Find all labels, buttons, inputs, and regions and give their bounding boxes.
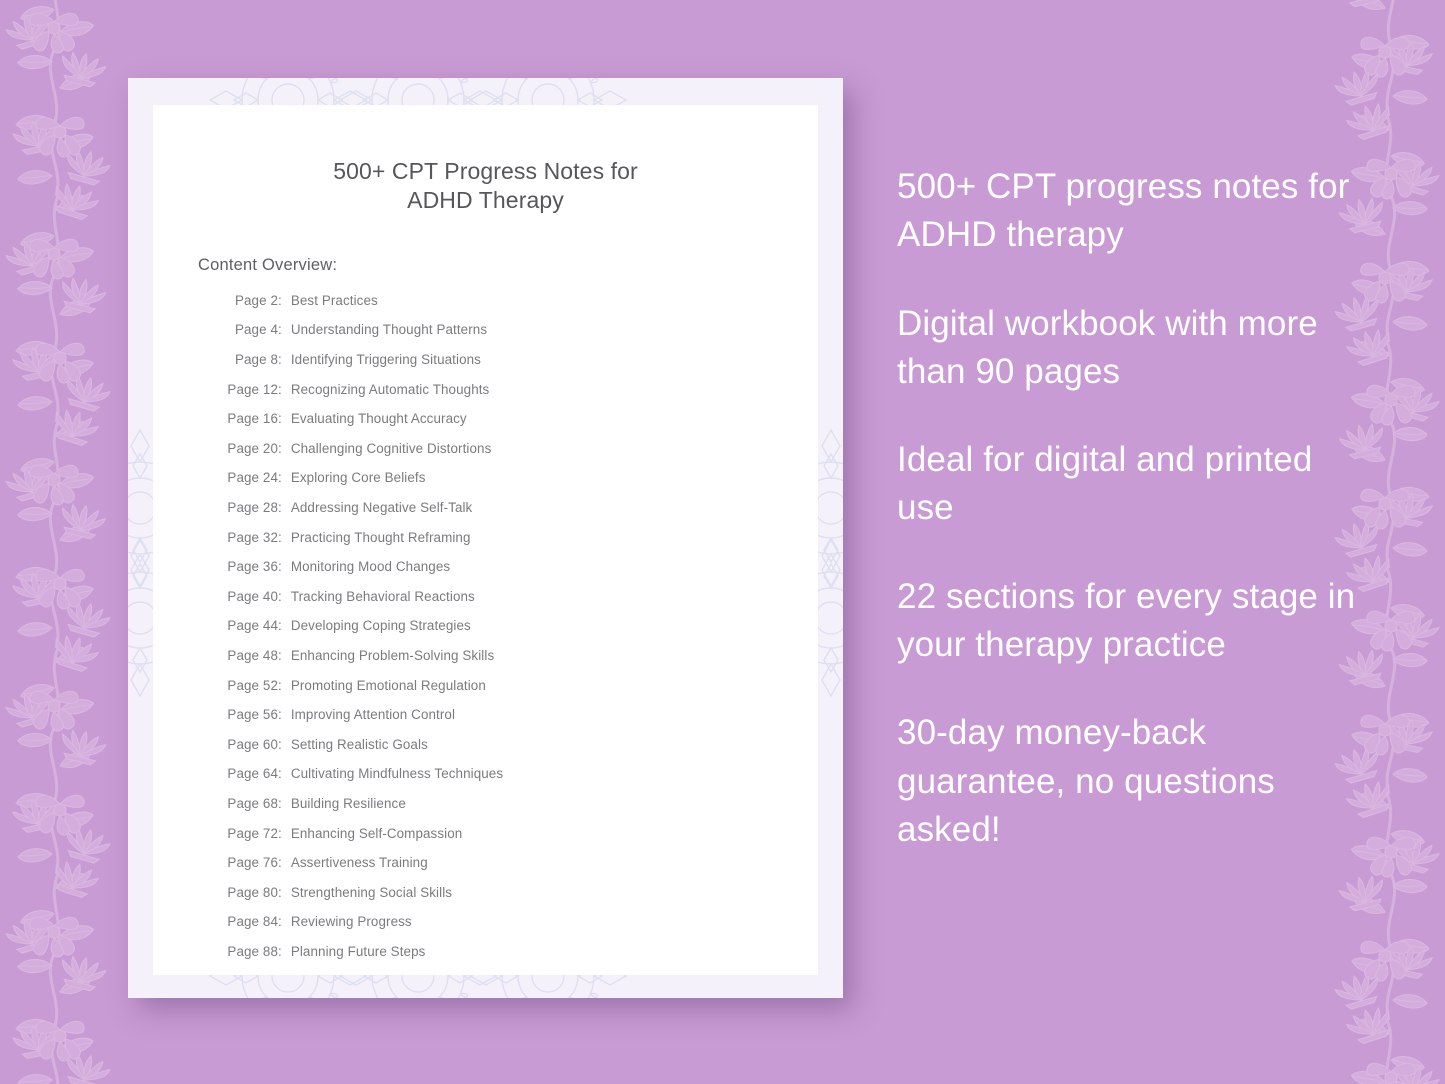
toc-entry: Page 80:Strengthening Social Skills bbox=[221, 886, 818, 916]
toc-entry-label: Understanding Thought Patterns bbox=[291, 323, 487, 336]
toc-entry-page: Page 24 bbox=[221, 471, 278, 484]
toc-entry-page: Page 20 bbox=[221, 442, 278, 455]
toc-entry: Page 48:Enhancing Problem-Solving Skills bbox=[221, 649, 818, 679]
toc-entry-label: Practicing Thought Reframing bbox=[291, 531, 471, 544]
toc-entry-label: Challenging Cognitive Distortions bbox=[291, 442, 492, 455]
toc-entry-label: Identifying Triggering Situations bbox=[291, 353, 481, 366]
toc-entry: Page 8:Identifying Triggering Situations bbox=[221, 353, 818, 383]
toc-entry-separator: : bbox=[278, 531, 291, 544]
toc-entry-separator: : bbox=[278, 856, 291, 869]
toc-entry: Page 56:Improving Attention Control bbox=[221, 708, 818, 738]
toc-entry-separator: : bbox=[278, 560, 291, 573]
toc-entry-label: Strengthening Social Skills bbox=[291, 886, 452, 899]
toc-entry: Page 44:Developing Coping Strategies bbox=[221, 619, 818, 649]
toc-entry-page: Page 72 bbox=[221, 827, 278, 840]
toc-entry-label: Evaluating Thought Accuracy bbox=[291, 412, 467, 425]
toc-entry-page: Page 2 bbox=[221, 294, 278, 307]
toc-entry: Page 72:Enhancing Self-Compassion bbox=[221, 827, 818, 857]
toc-entry-label: Promoting Emotional Regulation bbox=[291, 679, 486, 692]
feature-item: Ideal for digital and printed use bbox=[897, 436, 1367, 533]
feature-item: 30-day money-back guarantee, no question… bbox=[897, 709, 1367, 854]
toc-entry-page: Page 8 bbox=[221, 353, 278, 366]
toc-entry-label: Monitoring Mood Changes bbox=[291, 560, 450, 573]
table-of-contents: Page 2:Best PracticesPage 4:Understandin… bbox=[153, 275, 818, 975]
toc-entry: Page 52:Promoting Emotional Regulation bbox=[221, 679, 818, 709]
toc-entry-page: Page 56 bbox=[221, 708, 278, 721]
toc-entry: Page 2:Best Practices bbox=[221, 294, 818, 324]
toc-entry-separator: : bbox=[278, 679, 291, 692]
toc-entry: Page 28:Addressing Negative Self-Talk bbox=[221, 501, 818, 531]
toc-entry-label: Exploring Core Beliefs bbox=[291, 471, 426, 484]
toc-entry: Page 12:Recognizing Automatic Thoughts bbox=[221, 383, 818, 413]
toc-entry-separator: : bbox=[278, 323, 291, 336]
toc-entry-separator: : bbox=[278, 383, 291, 396]
workbook-card: 500+ CPT Progress Notes for ADHD Therapy… bbox=[128, 78, 843, 998]
toc-entry-label: Enhancing Problem-Solving Skills bbox=[291, 649, 494, 662]
toc-entry-label: Addressing Negative Self-Talk bbox=[291, 501, 473, 514]
toc-entry-label: Enhancing Self-Compassion bbox=[291, 827, 462, 840]
document-title: 500+ CPT Progress Notes for ADHD Therapy bbox=[153, 105, 818, 216]
toc-entry-separator: : bbox=[278, 649, 291, 662]
toc-entry: Page 4:Understanding Thought Patterns bbox=[221, 323, 818, 353]
toc-entry-page: Page 52 bbox=[221, 679, 278, 692]
toc-entry-label: Building Resilience bbox=[291, 797, 406, 810]
toc-entry: Page 64:Cultivating Mindfulness Techniqu… bbox=[221, 767, 818, 797]
toc-entry-page: Page 68 bbox=[221, 797, 278, 810]
toc-entry-label: Developing Coping Strategies bbox=[291, 619, 471, 632]
toc-entry-page: Page 40 bbox=[221, 590, 278, 603]
toc-entry-label: Cultivating Mindfulness Techniques bbox=[291, 767, 503, 780]
toc-entry-page: Page 16 bbox=[221, 412, 278, 425]
toc-entry-page: Page 80 bbox=[221, 886, 278, 899]
feature-item: 22 sections for every stage in your ther… bbox=[897, 573, 1367, 670]
mockup-canvas: 500+ CPT Progress Notes for ADHD Therapy… bbox=[0, 0, 1445, 1084]
toc-entry-page: Page 64 bbox=[221, 767, 278, 780]
toc-entry-page: Page 88 bbox=[221, 945, 278, 958]
floral-vine-left-icon bbox=[0, 0, 118, 1084]
toc-entry: Page 88:Planning Future Steps bbox=[221, 945, 818, 975]
toc-entry: Page 16:Evaluating Thought Accuracy bbox=[221, 412, 818, 442]
toc-entry-separator: : bbox=[278, 501, 291, 514]
toc-entry: Page 76:Assertiveness Training bbox=[221, 856, 818, 886]
feature-item: 500+ CPT progress notes for ADHD therapy bbox=[897, 163, 1367, 260]
toc-entry-page: Page 44 bbox=[221, 619, 278, 632]
toc-entry-separator: : bbox=[278, 886, 291, 899]
feature-item: Digital workbook with more than 90 pages bbox=[897, 300, 1367, 397]
toc-entry-separator: : bbox=[278, 442, 291, 455]
toc-entry-separator: : bbox=[278, 945, 291, 958]
toc-entry-separator: : bbox=[278, 412, 291, 425]
toc-entry-page: Page 84 bbox=[221, 915, 278, 928]
toc-entry: Page 24:Exploring Core Beliefs bbox=[221, 471, 818, 501]
toc-entry-page: Page 60 bbox=[221, 738, 278, 751]
toc-entry-page: Page 4 bbox=[221, 323, 278, 336]
toc-entry: Page 36:Monitoring Mood Changes bbox=[221, 560, 818, 590]
toc-entry-label: Best Practices bbox=[291, 294, 378, 307]
toc-entry-separator: : bbox=[278, 590, 291, 603]
toc-entry-label: Assertiveness Training bbox=[291, 856, 428, 869]
toc-entry-label: Setting Realistic Goals bbox=[291, 738, 428, 751]
toc-entry: Page 40:Tracking Behavioral Reactions bbox=[221, 590, 818, 620]
toc-entry-separator: : bbox=[278, 708, 291, 721]
toc-entry-page: Page 36 bbox=[221, 560, 278, 573]
toc-entry-label: Planning Future Steps bbox=[291, 945, 426, 958]
toc-entry-separator: : bbox=[278, 471, 291, 484]
toc-entry-separator: : bbox=[278, 738, 291, 751]
toc-entry-page: Page 12 bbox=[221, 383, 278, 396]
toc-entry-separator: : bbox=[278, 767, 291, 780]
toc-entry-label: Improving Attention Control bbox=[291, 708, 455, 721]
toc-entry-separator: : bbox=[278, 619, 291, 632]
toc-entry-separator: : bbox=[278, 353, 291, 366]
toc-entry-label: Reviewing Progress bbox=[291, 915, 412, 928]
toc-entry-label: Tracking Behavioral Reactions bbox=[291, 590, 475, 603]
toc-entry-separator: : bbox=[278, 827, 291, 840]
toc-entry-page: Page 32 bbox=[221, 531, 278, 544]
toc-entry: Page 20:Challenging Cognitive Distortion… bbox=[221, 442, 818, 472]
toc-entry-separator: : bbox=[278, 797, 291, 810]
content-overview-heading: Content Overview: bbox=[153, 216, 818, 275]
toc-entry-separator: : bbox=[278, 915, 291, 928]
toc-entry: Page 68:Building Resilience bbox=[221, 797, 818, 827]
toc-entry: Page 84:Reviewing Progress bbox=[221, 915, 818, 945]
toc-entry-page: Page 48 bbox=[221, 649, 278, 662]
feature-list: 500+ CPT progress notes for ADHD therapy… bbox=[897, 163, 1367, 854]
toc-entry-page: Page 76 bbox=[221, 856, 278, 869]
toc-entry-separator: : bbox=[278, 294, 291, 307]
toc-entry-label: Recognizing Automatic Thoughts bbox=[291, 383, 490, 396]
toc-entry: Page 32:Practicing Thought Reframing bbox=[221, 531, 818, 561]
toc-entry-page: Page 28 bbox=[221, 501, 278, 514]
toc-entry: Page 60:Setting Realistic Goals bbox=[221, 738, 818, 768]
document-page: 500+ CPT Progress Notes for ADHD Therapy… bbox=[153, 105, 818, 975]
